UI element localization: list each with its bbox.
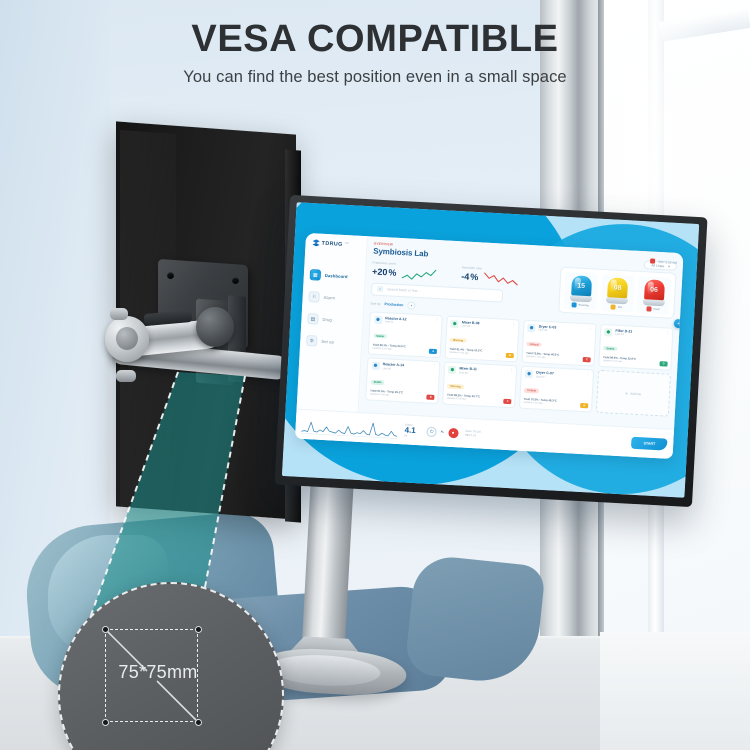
diamond-logo-icon — [312, 239, 319, 246]
add-line-card[interactable]: ⊕Add line — [595, 370, 671, 417]
card-subtitle: Line 04 — [615, 333, 632, 337]
kpi-deviation: Deviation rate -4 % — [461, 265, 520, 286]
card-subtitle: Line 07 — [536, 375, 554, 379]
vesa-magnifier: 75*75mm — [58, 582, 284, 750]
beacon-base — [569, 295, 591, 302]
output-metric: Output 4.1 t/h — [404, 423, 416, 438]
page-title: Symbiosis Lab — [373, 246, 429, 258]
grid-icon: ▦ — [310, 269, 322, 281]
signal-trace-chart — [301, 415, 398, 439]
monitor-screen: TDRUG TM ▦ Dashboard ⚐ Alarm — [282, 202, 699, 497]
arm-tension-knob — [110, 308, 128, 320]
page-subheadline: You can find the best position even in a… — [0, 68, 750, 87]
gear-icon: ✲ — [306, 335, 318, 347]
start-button[interactable]: START — [631, 436, 667, 450]
arm-pivot-inner — [116, 327, 138, 350]
card-subtitle: Line 02 — [462, 325, 480, 329]
card-subtitle: Line 06 — [459, 371, 477, 375]
beacon-value: 08 — [606, 284, 628, 292]
equipment-card[interactable]: ⋮⬣Reactor A-14Line 05StableYield 97.3% -… — [365, 357, 441, 404]
sidebar-item-setup[interactable]: ✲ Set up — [304, 334, 358, 350]
search-placeholder: Search batch or line... — [387, 287, 420, 293]
card-line-badge: F — [503, 399, 511, 404]
beacon-lamp: 06 — [642, 279, 665, 306]
brand-trademark: TM — [345, 242, 349, 245]
vesa-screw-hole — [232, 277, 239, 284]
flask-icon: ⬣ — [374, 315, 382, 323]
beacon-idle[interactable]: 08 Idle — [600, 274, 635, 313]
vesa-hole-marker — [102, 719, 109, 726]
card-menu-icon[interactable]: ⋮ — [665, 331, 669, 334]
equipment-card[interactable]: ⋮⬣Reactor A-12Line 01StableYield 98.1% -… — [368, 311, 444, 358]
kpi-unit: % — [470, 272, 479, 282]
status-badge: Stable — [373, 333, 387, 338]
card-line-badge: G — [580, 403, 588, 408]
record-icon[interactable]: ● — [448, 427, 459, 438]
chevron-down-icon: ▾ — [407, 301, 415, 309]
kpi-yield: Production yield +20 % — [372, 260, 438, 282]
beacon-label: Running — [578, 304, 588, 308]
monitor-bezel: TDRUG TM ▦ Dashboard ⚐ Alarm — [274, 195, 707, 507]
card-line-badge: B — [506, 352, 514, 357]
beacon-fault[interactable]: 06 Fault — [636, 276, 671, 315]
beacon-lamp: 15 — [569, 275, 592, 302]
product-scene: TDRUG TM ▦ Dashboard ⚐ Alarm — [0, 0, 750, 750]
status-badge: Critical — [524, 388, 539, 393]
sidebar-item-label: Alarm — [324, 295, 336, 301]
equipment-card[interactable]: ⋮⬣Dryer C-03Line 03CriticalYield 72.8% -… — [521, 319, 597, 366]
card-line-badge: D — [659, 361, 667, 366]
flask-icon: ⬣ — [371, 362, 379, 370]
search-icon: ⌕ — [377, 286, 383, 292]
control-label: AL — [441, 430, 445, 433]
sort-value: Production — [384, 302, 403, 307]
sidebar-nav: ▦ Dashboard ⚐ Alarm ▤ Drug — [304, 268, 361, 350]
bottom-controls: ⏻ AL ● — [426, 426, 458, 438]
sparkline-up — [401, 267, 438, 282]
monitor: TDRUG TM ▦ Dashboard ⚐ Alarm — [274, 195, 707, 507]
beacon-value: 06 — [643, 286, 665, 294]
equipment-card[interactable]: ⋮⬢Mixer B-08Line 02WarningYield 91.4% - … — [444, 315, 520, 362]
sidebar-item-label: Dashboard — [325, 273, 348, 279]
dashboard-window: TDRUG TM ▦ Dashboard ⚐ Alarm — [295, 233, 684, 459]
ball-joint — [196, 307, 234, 347]
output-unit: t/h — [404, 434, 415, 438]
vesa-hole-marker — [102, 626, 109, 633]
arm-tension-knob — [116, 370, 136, 382]
status-badge: Stable — [603, 346, 617, 351]
desk-surface-right — [600, 632, 750, 750]
beaker-icon: ⬢ — [451, 319, 459, 327]
card-subtitle: Line 03 — [538, 329, 556, 333]
card-line-badge: C — [583, 356, 591, 361]
equipment-card[interactable]: ⋮⬢Mixer B-11Line 06WarningYield 89.2% - … — [442, 361, 518, 408]
add-line-label: Add line — [630, 391, 641, 396]
vesa-size-label: 75*75mm — [88, 662, 228, 683]
status-badge: Warning — [450, 337, 467, 342]
card-menu-icon[interactable]: ⋮ — [435, 318, 439, 321]
status-dot-icon — [571, 302, 576, 307]
beacon-label: Fault — [653, 308, 659, 311]
sidebar-item-alarm[interactable]: ⚐ Alarm — [306, 290, 360, 306]
sidebar-item-drug[interactable]: ▤ Drug — [305, 312, 359, 328]
page-headline: VESA COMPATIBLE — [0, 18, 750, 61]
status-badge: Critical — [527, 342, 542, 347]
clock-text: SEP 3:05 AM — [658, 259, 677, 264]
power-icon[interactable]: ⏻ — [426, 426, 437, 437]
plus-icon: ⊕ — [625, 391, 628, 395]
kpi-value: +20 — [372, 266, 388, 277]
bell-icon: ⚐ — [308, 291, 320, 303]
beacon-label: Idle — [618, 306, 622, 309]
status-dot-icon — [611, 304, 616, 309]
flask-icon: ⬣ — [525, 370, 533, 378]
brand-logo[interactable]: TDRUG TM — [309, 238, 362, 249]
alert-clock-icon — [650, 258, 655, 263]
card-menu-icon[interactable]: ⋮ — [586, 373, 590, 376]
card-menu-icon[interactable]: ⋮ — [512, 323, 516, 326]
card-subtitle: Line 05 — [382, 367, 404, 371]
header-titles: OVERVIEW Symbiosis Lab — [373, 241, 429, 257]
beacon-running[interactable]: 15 Running — [563, 272, 598, 311]
beaker-icon: ⬢ — [448, 366, 456, 374]
sort-label: Sort by — [370, 301, 380, 306]
equipment-card-grid: ⋮⬣Reactor A-12Line 01StableYield 98.1% -… — [365, 311, 673, 417]
kpi-value: -4 — [461, 271, 470, 281]
equipment-card[interactable]: ⋮⬣Dryer C-07Line 07CriticalYield 70.5% -… — [519, 366, 595, 413]
flask-icon: ⬣ — [527, 323, 535, 331]
bottom-note: Chan. 02 Cal. REV 1.19 — [465, 430, 481, 438]
beacon-base — [642, 299, 664, 306]
card-menu-icon[interactable]: ⋮ — [432, 365, 436, 368]
card-menu-icon[interactable]: ⋮ — [588, 327, 592, 330]
clipboard-icon: ▤ — [307, 313, 319, 325]
beacon-value: 15 — [570, 282, 592, 290]
status-badge: Stable — [371, 380, 385, 385]
sidebar-item-dashboard[interactable]: ▦ Dashboard — [308, 268, 362, 284]
beacon-lamp: 08 — [606, 277, 629, 304]
status-badge: Warning — [447, 384, 464, 389]
equipment-card[interactable]: ⋮⬢Filler D-21Line 04StableYield 96.6% - … — [598, 323, 674, 370]
card-line-badge: A — [429, 348, 437, 353]
beacon-base — [606, 297, 628, 304]
sidebar-item-label: Set up — [321, 339, 334, 345]
vesa-hole-marker — [195, 626, 202, 633]
sidebar-item-label: Drug — [322, 317, 332, 323]
card-line-badge: E — [427, 395, 435, 400]
vesa-screw-hole — [167, 272, 174, 279]
sparkline-down — [483, 271, 520, 286]
kpi-unit: % — [388, 267, 397, 277]
vesa-hole-marker — [195, 719, 202, 726]
card-menu-icon[interactable]: ⋮ — [509, 369, 513, 372]
card-subtitle: Line 01 — [385, 321, 407, 325]
brand-name: TDRUG — [321, 240, 342, 247]
status-dot-icon — [646, 306, 651, 311]
status-beacon-panel: 15 Running — [558, 267, 676, 319]
header-clock: SEP 3:05 AM — [650, 256, 677, 264]
beaker-icon: ⬢ — [604, 328, 612, 336]
